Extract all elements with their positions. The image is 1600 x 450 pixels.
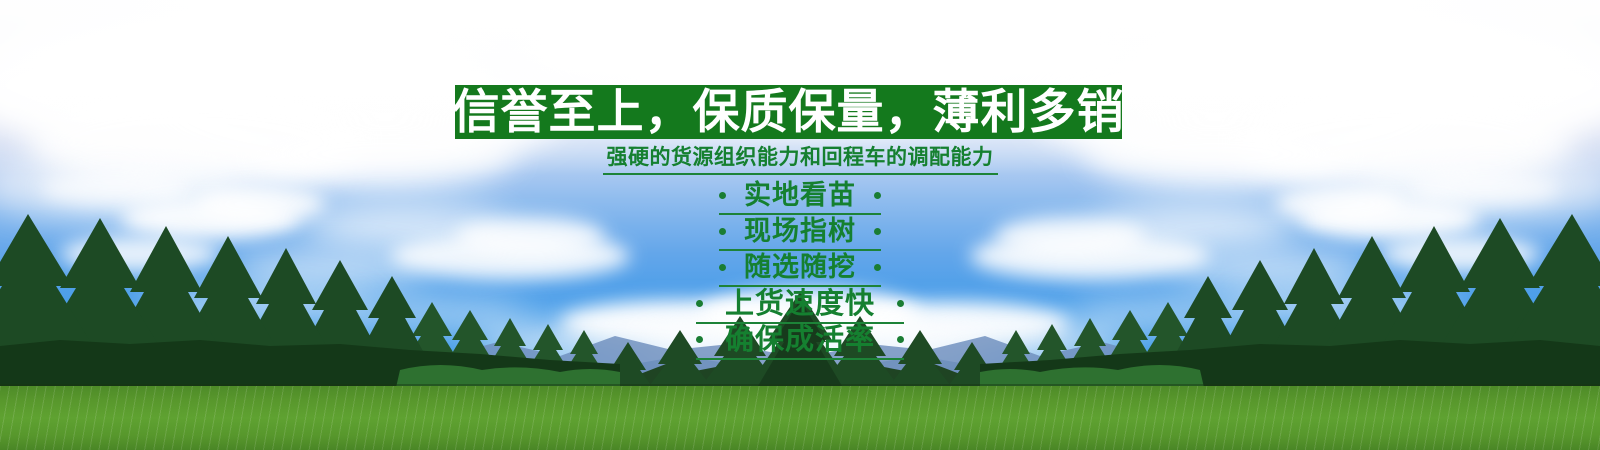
feature-item: 实地看苗	[0, 180, 1600, 216]
bullet-dot-icon	[719, 192, 726, 199]
bullet-dot-icon	[874, 264, 881, 271]
bullet-dot-icon	[874, 228, 881, 235]
bullet-dot-icon	[719, 264, 726, 271]
feature-item-inner: 确保成活率	[696, 325, 904, 360]
feature-item: 随选随挖	[0, 252, 1600, 288]
feature-item-label: 上货速度快	[703, 289, 897, 318]
feature-item: 现场指树	[0, 216, 1600, 252]
bullet-dot-icon	[719, 228, 726, 235]
bullet-dot-icon	[897, 300, 904, 307]
feature-list: 实地看苗现场指树随选随挖上货速度快确保成活率	[0, 180, 1600, 360]
feature-item: 上货速度快	[0, 288, 1600, 324]
subtitle-text: 强硬的货源组织能力和回程车的调配能力	[603, 147, 998, 175]
promo-banner: 信誉至上，保质保量，薄利多销 强硬的货源组织能力和回程车的调配能力 实地看苗现场…	[0, 0, 1600, 450]
bullet-dot-icon	[874, 192, 881, 199]
subtitle: 强硬的货源组织能力和回程车的调配能力	[0, 147, 1600, 175]
bullet-dot-icon	[696, 300, 703, 307]
feature-item-label: 确保成活率	[703, 325, 897, 354]
feature-item-inner: 实地看苗	[719, 182, 881, 215]
feature-item-label: 随选随挖	[726, 254, 874, 281]
feature-item-label: 实地看苗	[726, 182, 874, 209]
headline-bar: 信誉至上，保质保量，薄利多销	[455, 85, 1122, 139]
feature-item-inner: 上货速度快	[696, 289, 904, 324]
headline-text: 信誉至上，保质保量，薄利多销	[453, 89, 1125, 136]
feature-item-inner: 随选随挖	[719, 254, 881, 287]
bullet-dot-icon	[696, 336, 703, 343]
feature-item-label: 现场指树	[726, 218, 874, 245]
banner-content: 信誉至上，保质保量，薄利多销 强硬的货源组织能力和回程车的调配能力 实地看苗现场…	[0, 0, 1600, 450]
feature-item: 确保成活率	[0, 324, 1600, 360]
bullet-dot-icon	[897, 336, 904, 343]
feature-item-inner: 现场指树	[719, 218, 881, 251]
